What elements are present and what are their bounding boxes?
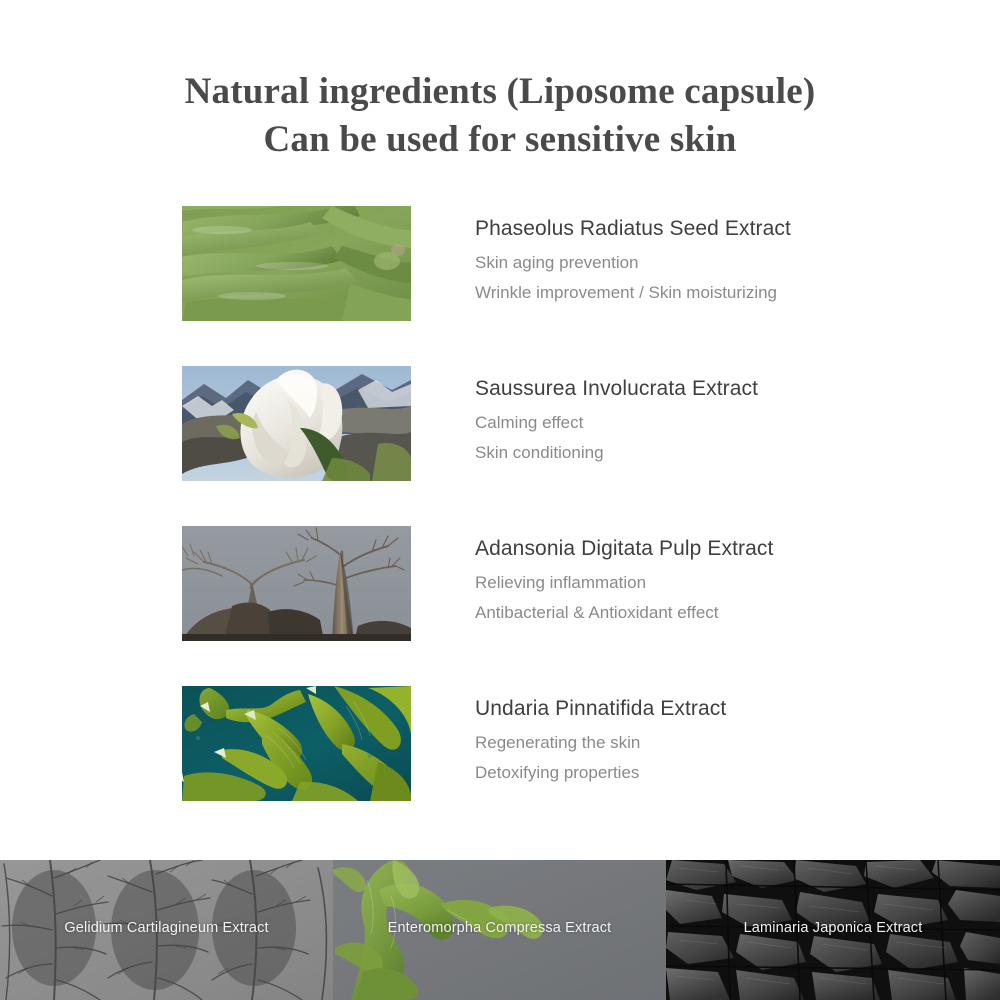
enteromorpha-seaweed-photo[interactable]: Enteromorpha Compressa Extract (333, 860, 666, 1000)
ingredient-benefit-2: Detoxifying properties (475, 758, 726, 788)
ingredient-benefit-1: Relieving inflammation (475, 568, 773, 598)
bottom-image-strip: Gelidium Cartilagineum Extract (0, 860, 1000, 1000)
page-title: Natural ingredients (Liposome capsule) C… (0, 0, 1000, 164)
ingredient-title: Saussurea Involucrata Extract (475, 374, 758, 404)
snow-lotus-flower-photo (182, 366, 411, 481)
ingredient-benefit-2: Antibacterial & Antioxidant effect (475, 598, 773, 628)
ingredient-info: Adansonia Digitata Pulp Extract Relievin… (475, 526, 773, 628)
panel-caption: Laminaria Japonica Extract (666, 920, 1000, 936)
ingredient-row: Phaseolus Radiatus Seed Extract Skin agi… (0, 206, 1000, 366)
ingredient-title: Phaseolus Radiatus Seed Extract (475, 214, 791, 244)
ingredient-benefit-1: Calming effect (475, 408, 758, 438)
ingredient-benefit-2: Skin conditioning (475, 438, 758, 468)
baobab-tree-photo (182, 526, 411, 641)
ingredient-info: Undaria Pinnatifida Extract Regenerating… (475, 686, 726, 788)
ingredient-row: Saussurea Involucrata Extract Calming ef… (0, 366, 1000, 526)
laminaria-kelp-dried-photo[interactable]: Laminaria Japonica Extract (666, 860, 1000, 1000)
panel-caption: Enteromorpha Compressa Extract (333, 920, 666, 936)
page-title-line-2: Can be used for sensitive skin (0, 116, 1000, 164)
ingredient-title: Adansonia Digitata Pulp Extract (475, 534, 773, 564)
ingredient-row: Undaria Pinnatifida Extract Regenerating… (0, 686, 1000, 846)
ingredient-benefit-2: Wrinkle improvement / Skin moisturizing (475, 278, 791, 308)
ingredient-benefit-1: Skin aging prevention (475, 248, 791, 278)
gelidium-algae-photo[interactable]: Gelidium Cartilagineum Extract (0, 860, 333, 1000)
ingredient-info: Phaseolus Radiatus Seed Extract Skin agi… (475, 206, 791, 308)
ingredient-info: Saussurea Involucrata Extract Calming ef… (475, 366, 758, 468)
ingredient-row: Adansonia Digitata Pulp Extract Relievin… (0, 526, 1000, 686)
ingredient-title: Undaria Pinnatifida Extract (475, 694, 726, 724)
panel-caption: Gelidium Cartilagineum Extract (0, 920, 333, 936)
kelp-seaweed-underwater-photo (182, 686, 411, 801)
ingredient-benefit-1: Regenerating the skin (475, 728, 726, 758)
ingredient-list: Phaseolus Radiatus Seed Extract Skin agi… (0, 206, 1000, 846)
green-bean-pods-photo (182, 206, 411, 321)
page-title-line-1: Natural ingredients (Liposome capsule) (0, 68, 1000, 116)
